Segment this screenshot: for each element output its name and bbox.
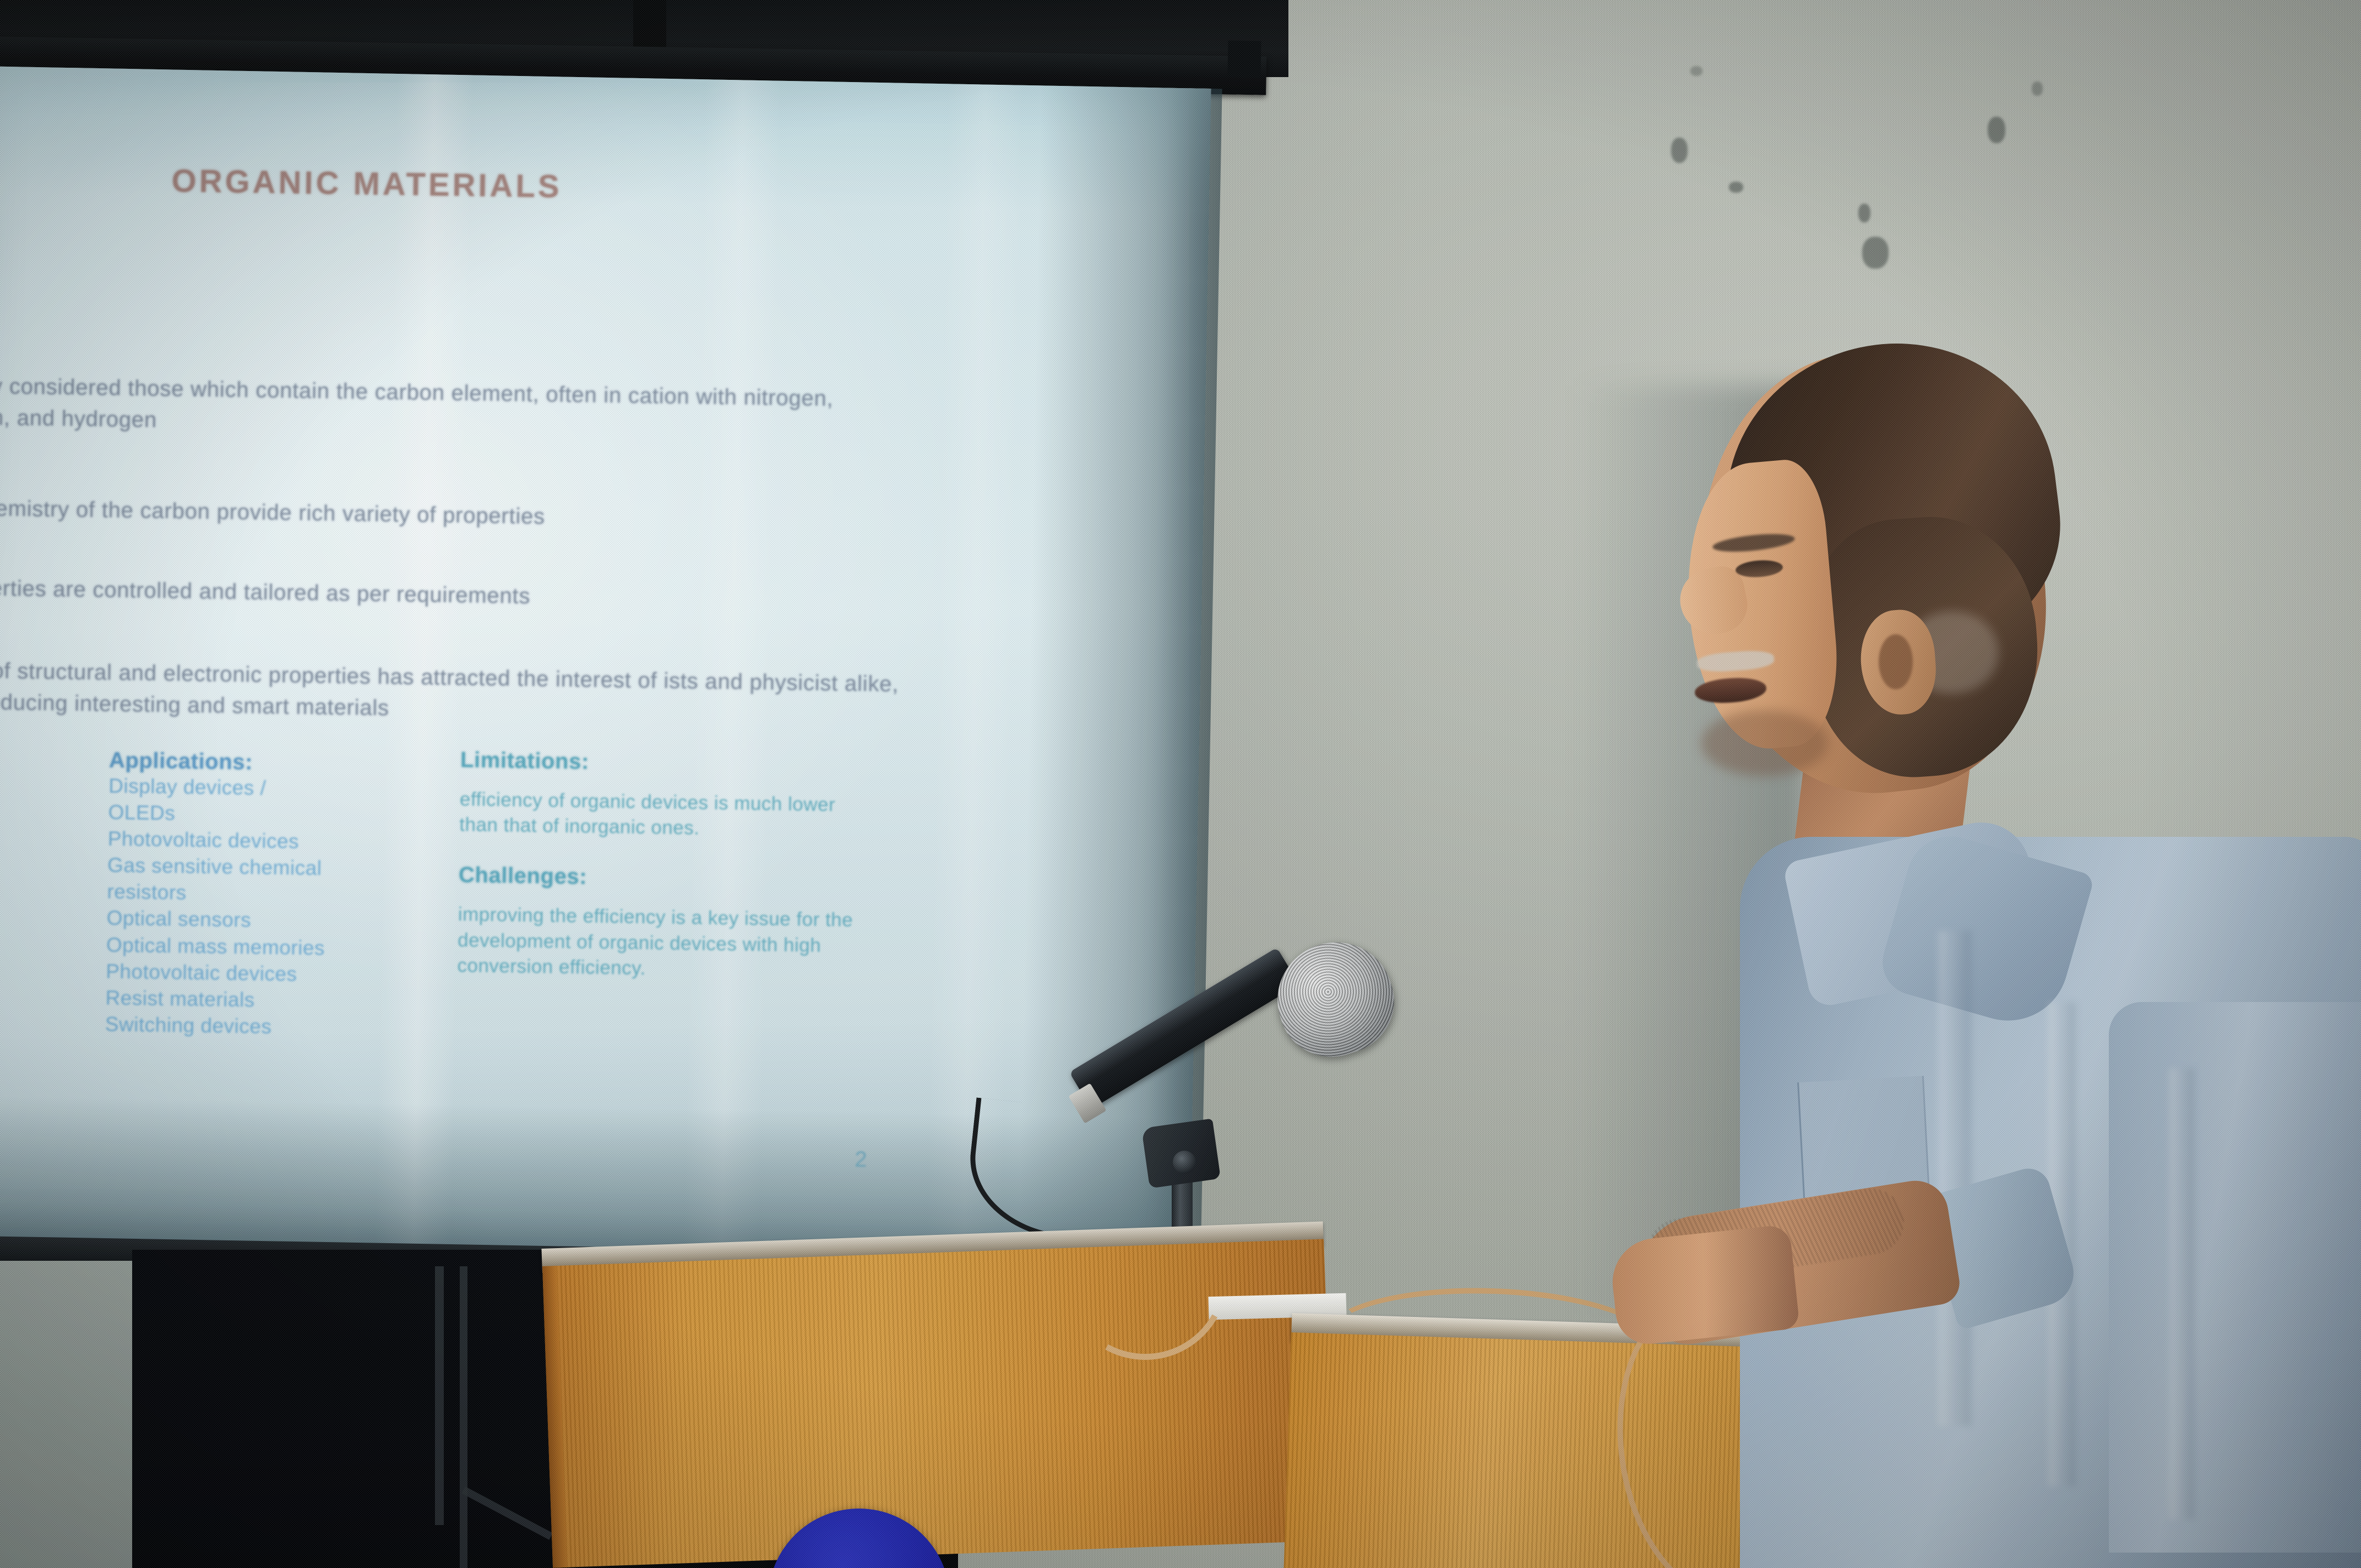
slide-title: ORGANIC MATERIALS: [171, 162, 562, 205]
ear-inner: [1879, 634, 1913, 689]
applications-item-5: Optical sensors: [106, 905, 426, 937]
applications-item-8: Resist materials: [105, 984, 425, 1016]
slide-column-left: s: rone: ne anne:: [0, 744, 75, 917]
challenges-body: improving the efficiency is a key issue …: [457, 902, 855, 984]
applications-item-2: Photovoltaic devices: [107, 826, 427, 857]
left-column-item-0: rone:: [0, 791, 74, 820]
applications-item-6: Optical mass memories: [106, 932, 426, 963]
applications-item-0: Display devices /: [108, 773, 428, 804]
shirt-sleeve: [2109, 1002, 2361, 1553]
shirt-fold-1: [1938, 930, 1971, 1426]
applications-item-1: OLEDs: [108, 799, 428, 831]
slide-paragraph-3: properties are controlled and tailored a…: [0, 572, 825, 617]
wall-mark-5: [1988, 117, 2005, 143]
challenges-heading: Challenges:: [459, 863, 856, 894]
left-column-item-1: ne: [0, 840, 74, 868]
left-wall-strip: [0, 1261, 143, 1568]
speaker-person: [1630, 352, 2361, 1568]
applications-item-9: Switching devices: [105, 1011, 425, 1042]
wall-mark-1: [1671, 138, 1688, 163]
slide-paragraph-4: ange of structural and electronic proper…: [0, 655, 920, 732]
stand-pole-left: [435, 1266, 444, 1525]
slide-column-limitations: Limitations: efficiency of organic devic…: [457, 748, 857, 984]
wall-mark-7: [2032, 81, 2043, 96]
wall-mark-2: [1729, 182, 1743, 193]
left-column-item-2: anne:: [0, 888, 73, 917]
applications-item-4: resistors: [107, 879, 427, 910]
shirt-fold-3: [2169, 1068, 2195, 1520]
presentation-photo-scene: ORGANIC MATERIALS tionally considered th…: [0, 0, 2361, 1568]
applications-item-3: Gas sensitive chemical: [107, 852, 427, 884]
limitations-body: efficiency of organic devices is much lo…: [459, 787, 856, 843]
slide-paragraph-2: e chemistry of the carbon provide rich v…: [0, 492, 833, 537]
limitations-heading: Limitations:: [460, 748, 857, 778]
slide-number: 2: [855, 1147, 867, 1172]
projected-slide: ORGANIC MATERIALS tionally considered th…: [0, 58, 1104, 1170]
microphone-clip-screw: [1173, 1151, 1196, 1174]
wall-mark-3: [1858, 204, 1870, 222]
screen-roller-cap: [1227, 41, 1261, 78]
wall-mark-4: [1862, 237, 1889, 269]
slide-paragraph-1: tionally considered those which contain …: [0, 370, 900, 447]
stand-pole-right: [460, 1266, 467, 1568]
slide-column-applications: Applications: Display devices / OLEDs Ph…: [105, 748, 428, 1042]
hand: [1608, 1224, 1800, 1347]
chin-shadow: [1701, 710, 1828, 776]
left-column-heading: s:: [0, 744, 75, 771]
applications-item-7: Photovoltaic devices: [106, 958, 426, 989]
wall-mark-6: [1690, 66, 1702, 76]
